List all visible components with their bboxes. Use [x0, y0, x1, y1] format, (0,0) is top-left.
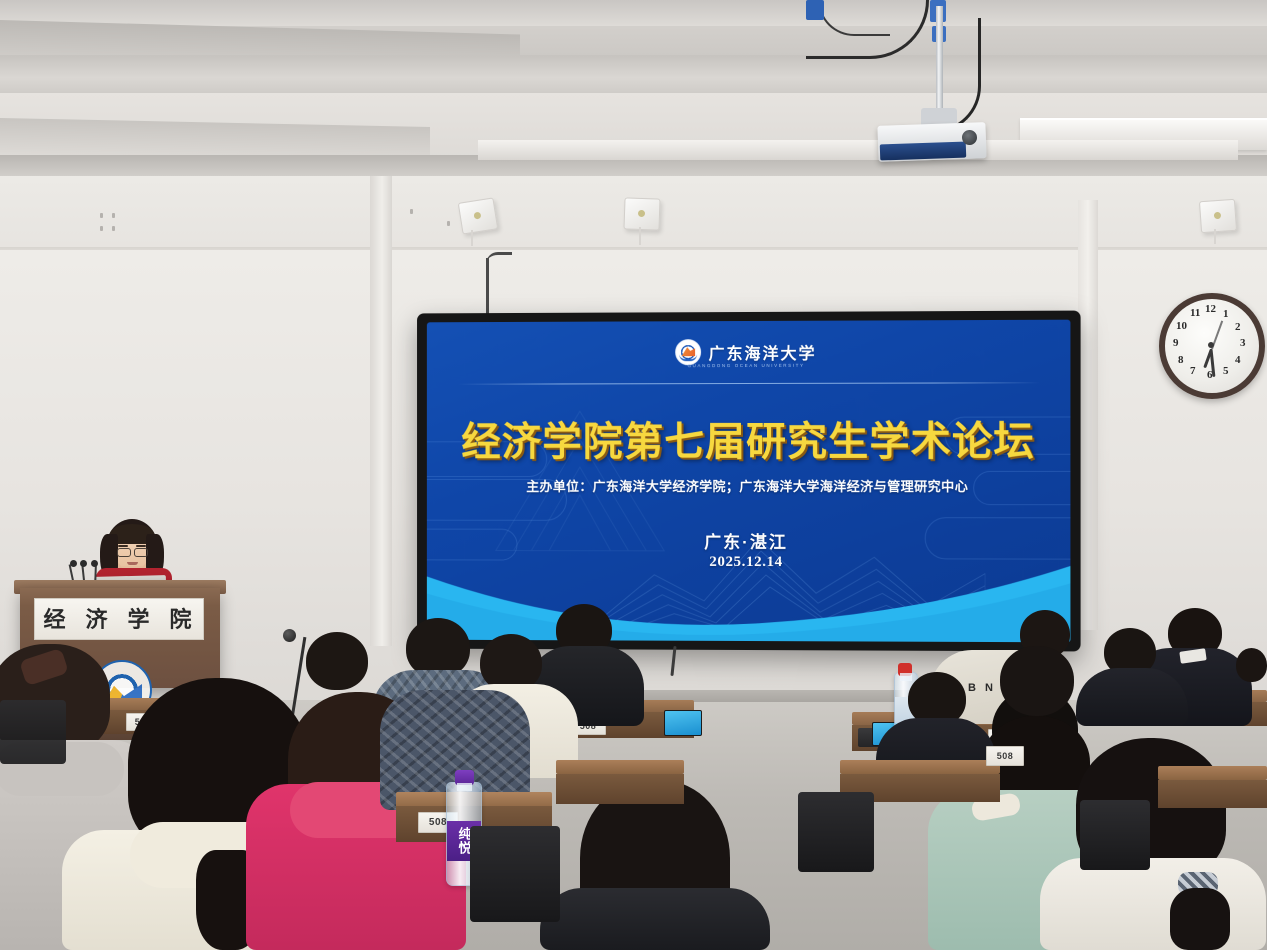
chair-back: [798, 792, 874, 872]
presentation-display[interactable]: 广东海洋大学 GUANGDONG OCEAN UNIVERSITY 经济学院第七…: [417, 311, 1081, 652]
clock-numeral: 7: [1190, 365, 1196, 377]
projector-mount-pole: [936, 6, 943, 112]
desk-front: [1158, 780, 1267, 808]
wall-mark-c: [100, 226, 103, 231]
audience-head: [406, 618, 470, 678]
university-emblem-icon: [676, 339, 702, 365]
wall-mark-e: [410, 209, 413, 214]
university-name-cn: 广东海洋大学: [709, 340, 817, 364]
bottle-neck: [457, 783, 472, 791]
desk-number-plate: 508: [986, 746, 1024, 766]
desk-top: [1158, 766, 1267, 780]
chair-back: [0, 700, 66, 764]
audience-hair: [1000, 646, 1074, 716]
presentation-slide: 广东海洋大学 GUANGDONG OCEAN UNIVERSITY 经济学院第七…: [427, 320, 1071, 643]
clock-numeral: 1: [1223, 308, 1229, 320]
podium-sign-char-3: 学: [127, 602, 150, 634]
slide-wave-decoration: [427, 539, 1071, 643]
wall-sensor-center: [623, 197, 660, 230]
clock-numeral: 12: [1205, 303, 1216, 315]
ceiling-beam-front: [0, 55, 1267, 93]
wall-sensor-right: [1199, 199, 1237, 233]
wall-sensor-wire-right: [1214, 229, 1216, 244]
clock-numeral: 9: [1173, 337, 1179, 349]
podium-sign-char-1: 经: [43, 602, 66, 634]
clock-numeral: 2: [1235, 321, 1241, 333]
desk-top: [840, 760, 1000, 774]
wall-sensor-wire-center: [639, 227, 641, 245]
audience-body: [1040, 858, 1266, 950]
slide-organizers: 主办单位：广东海洋大学经济学院；广东海洋大学海洋经济与管理研究中心: [427, 476, 1071, 495]
gooseneck-mic-head-3: [91, 560, 98, 567]
wall-clock: 12 1 2 3 4 5 6 7 8 9 10 11: [1159, 293, 1265, 399]
podium-sign-text: 经 济 学 院: [34, 600, 202, 636]
wall-sensor-wire-left: [471, 230, 473, 246]
audience-head: [1236, 648, 1267, 682]
wall-mark-b: [112, 213, 115, 218]
audience-body: [1076, 668, 1188, 726]
slide-title: 经济学院第七届研究生学术论坛: [427, 408, 1071, 467]
gooseneck-mic-head-1: [70, 560, 77, 567]
wall-pillar-left: [370, 176, 392, 646]
speaker-eyebrow-left: [118, 545, 128, 547]
desk-top: [556, 760, 684, 774]
display-panel: 广东海洋大学 GUANGDONG OCEAN UNIVERSITY 经济学院第七…: [427, 320, 1071, 643]
speaker-mouth: [127, 562, 138, 565]
desk-front: [556, 774, 684, 804]
wall-mark-f: [447, 221, 450, 226]
projector-brand-label: [880, 142, 967, 161]
floor-microphone-head: [283, 629, 296, 642]
bottle-neck: [900, 673, 912, 681]
audience-logo-text: B N: [968, 682, 996, 694]
wall-pillar-right: [1078, 200, 1098, 630]
speaker-glasses-right: [134, 548, 148, 557]
audience-ponytail: [1170, 888, 1230, 950]
clock-numeral: 4: [1235, 354, 1241, 366]
lecture-hall-photo: 12 1 2 3 4 5 6 7 8 9 10 11: [0, 0, 1267, 950]
wall-mark-a: [100, 213, 103, 218]
podium-sign-char-4: 院: [169, 602, 192, 634]
ceiling-slab: [0, 0, 1267, 26]
cable-connector-left: [806, 0, 824, 20]
wall-mark-d: [112, 226, 115, 231]
chair-back: [1080, 800, 1150, 870]
clock-numeral: 5: [1223, 365, 1229, 377]
audience-head: [306, 632, 368, 690]
speaker-glasses-left: [117, 548, 131, 557]
clock-face: 12 1 2 3 4 5 6 7 8 9 10 11: [1165, 299, 1259, 393]
clock-numeral: 8: [1178, 354, 1184, 366]
audience-body: [540, 888, 770, 950]
wall-sensor-left: [458, 197, 499, 234]
clock-numeral: 3: [1240, 337, 1246, 349]
clock-numeral: 11: [1190, 307, 1200, 319]
gooseneck-mic-head-2: [80, 560, 87, 567]
clock-center-pin: [1208, 342, 1214, 348]
chair-back: [470, 826, 560, 922]
desk-monitor[interactable]: [664, 710, 702, 736]
clock-numeral: 10: [1176, 320, 1187, 332]
ceiling-light-trunking-center: [478, 140, 1238, 160]
screen-cable-bend: [486, 252, 512, 267]
podium-sign-char-2: 济: [85, 602, 108, 634]
speaker-eyebrow-right: [136, 545, 146, 547]
